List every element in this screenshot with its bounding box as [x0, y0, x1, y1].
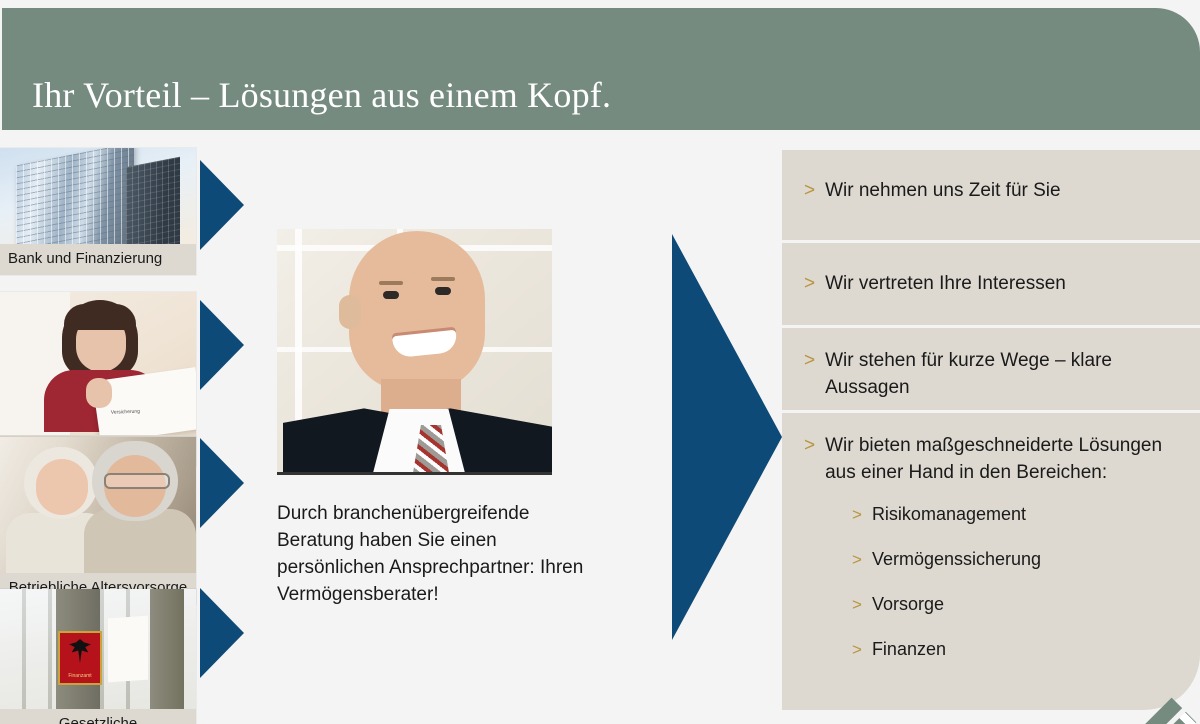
benefit-subitem[interactable]: > Risikomanagement	[852, 502, 1182, 527]
chevron-arrow-icon-4	[200, 588, 244, 678]
page-title: Ihr Vorteil – Lösungen aus einem Kopf.	[32, 74, 611, 116]
center-paragraph: Durch branchenübergreifende Beratung hab…	[277, 500, 607, 608]
senior-couple-photo	[0, 437, 196, 573]
benefit-row[interactable]: > Wir stehen für kurze Wege – klare Auss…	[782, 325, 1200, 410]
chevron-arrow-icon-3	[200, 438, 244, 528]
benefit-row[interactable]: > Wir nehmen uns Zeit für Sie	[782, 150, 1200, 240]
chevron-arrow-icon-2	[200, 300, 244, 390]
bullet-marker-icon: >	[804, 347, 815, 374]
benefit-subitem-text: Vermögenssicherung	[872, 547, 1041, 572]
slide: Ihr Vorteil – Lösungen aus einem Kopf. B…	[0, 0, 1200, 724]
slide-header-bar: Ihr Vorteil – Lösungen aus einem Kopf.	[2, 8, 1200, 130]
topic-tile-legal[interactable]: Finanzamt Gesetzliche Rahmenbedingungen	[0, 589, 196, 724]
bullet-marker-icon: >	[852, 502, 862, 527]
topic-tile-caption: Gesetzliche Rahmenbedingungen	[0, 709, 196, 724]
bullet-marker-icon: >	[852, 592, 862, 617]
benefit-subitem[interactable]: > Finanzen	[852, 637, 1182, 662]
benefit-subitem-text: Risikomanagement	[872, 502, 1026, 527]
benefits-panel: > Wir nehmen uns Zeit für Sie > Wir vert…	[782, 150, 1200, 710]
bullet-marker-icon: >	[804, 432, 815, 459]
benefit-text: Wir stehen für kurze Wege – klare Aussag…	[825, 347, 1182, 401]
bullet-marker-icon: >	[804, 177, 815, 204]
topic-tile-bank[interactable]: Bank und Finanzierung	[0, 148, 196, 275]
benefit-text: Wir vertreten Ihre Interessen	[825, 270, 1066, 297]
office-tower-photo	[0, 148, 196, 244]
large-chevron-arrow-icon	[672, 234, 782, 640]
benefit-text: Wir bieten maßgeschneiderte Lösungen aus…	[825, 432, 1182, 486]
benefit-subitem-text: Finanzen	[872, 637, 946, 662]
benefit-subitem[interactable]: > Vorsorge	[852, 592, 1182, 617]
bullet-marker-icon: >	[804, 270, 815, 297]
benefit-text: Wir nehmen uns Zeit für Sie	[825, 177, 1060, 204]
bullet-marker-icon: >	[852, 637, 862, 662]
topic-tile-pension[interactable]: Betriebliche Altersvorsorge	[0, 437, 196, 604]
bullet-marker-icon: >	[852, 547, 862, 572]
benefit-subitem[interactable]: > Vermögenssicherung	[852, 547, 1182, 572]
chevron-arrow-icon-1	[200, 160, 244, 250]
benefit-row[interactable]: > Wir vertreten Ihre Interessen	[782, 240, 1200, 325]
topic-tile-caption: Bank und Finanzierung	[0, 244, 196, 275]
benefit-subitem-text: Vorsorge	[872, 592, 944, 617]
woman-with-insurance-document-photo	[0, 292, 196, 435]
advisor-portrait-photo	[277, 229, 552, 475]
benefit-row[interactable]: > Wir bieten maßgeschneiderte Lösungen a…	[782, 410, 1200, 707]
finanzamt-sign-photo: Finanzamt	[0, 589, 196, 709]
